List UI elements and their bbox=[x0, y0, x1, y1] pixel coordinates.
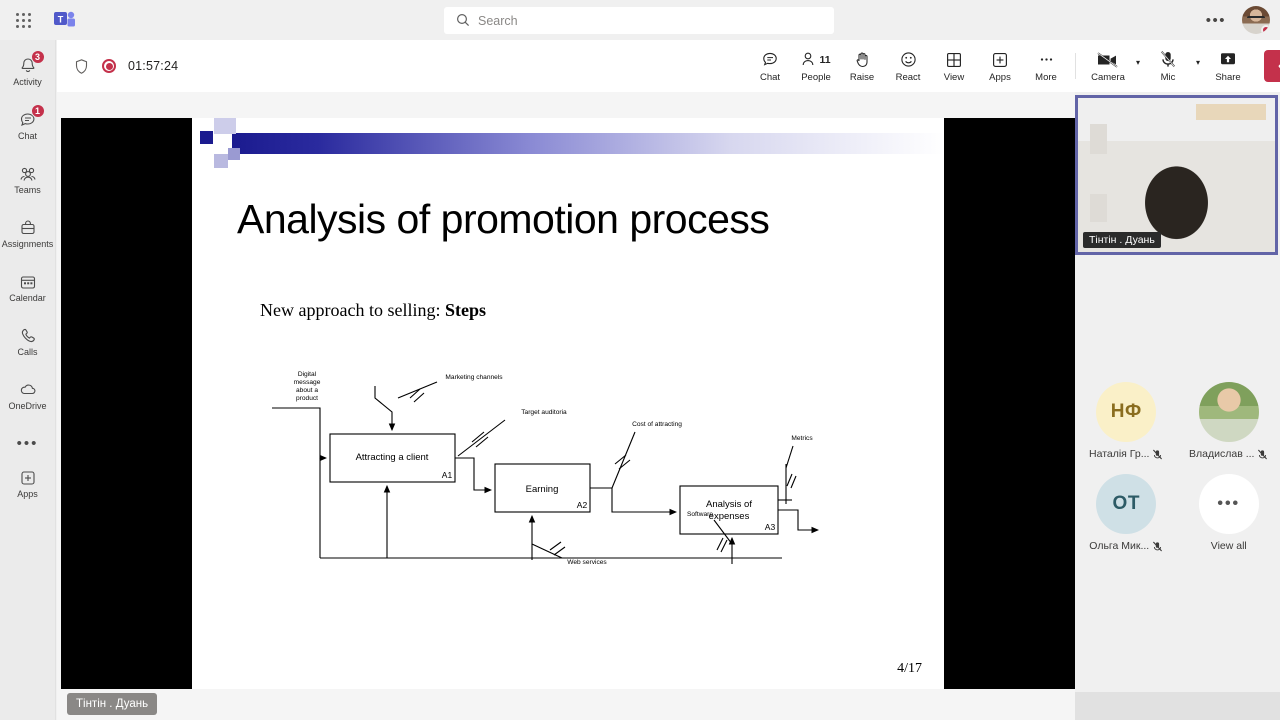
view-all-dots: ••• bbox=[1217, 495, 1240, 513]
avatar-initials: НФ bbox=[1111, 401, 1142, 423]
presenter-name-chip: Тінтін . Дуань bbox=[67, 693, 157, 715]
shared-content-area[interactable]: Analysis of promotion process New approa… bbox=[61, 118, 1075, 689]
sidebar-item-calendar[interactable]: Calendar bbox=[0, 264, 56, 312]
self-view-tile[interactable] bbox=[1075, 692, 1280, 720]
participant-tile[interactable]: ОТ Ольга Мик... bbox=[1075, 474, 1178, 552]
sidebar-item-label: Activity bbox=[13, 78, 42, 88]
participants-panel: Тінтін . Дуань НФ Наталія Гр... Владисла… bbox=[1075, 92, 1280, 720]
plus-box-icon bbox=[991, 50, 1009, 70]
diagram-label-software: Software bbox=[687, 511, 713, 518]
sidebar-item-chat[interactable]: Chat 1 bbox=[0, 102, 56, 150]
search-icon bbox=[456, 13, 470, 27]
wall-decor-2 bbox=[1090, 194, 1107, 222]
top-bar-right: ••• bbox=[1200, 0, 1270, 40]
diagram-label-target: Target auditoria bbox=[521, 409, 567, 416]
sidebar-item-label: Calendar bbox=[9, 294, 46, 304]
diagram-box-a1-label: Attracting a client bbox=[356, 452, 429, 463]
tool-label: React bbox=[896, 72, 921, 83]
sidebar-item-onedrive[interactable]: OneDrive bbox=[0, 372, 56, 420]
topbar-more-button[interactable]: ••• bbox=[1200, 12, 1232, 29]
diagram-svg: Attracting a client Earning Analysis of … bbox=[262, 368, 902, 598]
diagram-code-a2: A2 bbox=[577, 500, 588, 510]
slide-subtitle-prefix: New approach to selling: bbox=[260, 300, 445, 320]
leave-button[interactable]: Leave bbox=[1264, 50, 1280, 82]
share-button[interactable]: Share bbox=[1202, 40, 1254, 92]
sidebar-item-label: Apps bbox=[17, 490, 38, 500]
camera-off-icon bbox=[1096, 50, 1120, 70]
top-bar: T Search ••• bbox=[0, 0, 1280, 40]
avatar: ОТ bbox=[1096, 474, 1156, 534]
avatar bbox=[1199, 382, 1259, 442]
teams-logo-icon: T bbox=[54, 10, 76, 30]
diagram-label-input-3: about a bbox=[296, 387, 318, 394]
slide-title: Analysis of promotion process bbox=[237, 196, 917, 243]
sidebar-item-label: Assignments bbox=[2, 240, 54, 250]
view-all-label: View all bbox=[1211, 540, 1247, 552]
slide-header-band bbox=[192, 118, 944, 174]
tool-label: Share bbox=[1215, 72, 1240, 83]
speaker-name: Тінтін . Дуань bbox=[1083, 232, 1161, 248]
mic-off-icon bbox=[1257, 449, 1268, 460]
sidebar-more-button[interactable]: ••• bbox=[17, 426, 39, 460]
idef0-diagram: Attracting a client Earning Analysis of … bbox=[262, 368, 902, 598]
wall-decor-1 bbox=[1090, 124, 1107, 154]
participant-tile[interactable]: Владислав ... bbox=[1178, 382, 1280, 460]
mic-off-icon bbox=[1159, 50, 1177, 70]
diagram-label-input-1: Digital bbox=[298, 371, 317, 378]
sidebar-item-assignments[interactable]: Assignments bbox=[0, 210, 56, 258]
diagram-label-cost: Cost of attracting bbox=[632, 421, 682, 428]
diagram-code-a1: A1 bbox=[442, 470, 453, 480]
ellipsis-icon: ••• bbox=[1199, 474, 1259, 534]
more-button[interactable]: More bbox=[1023, 40, 1069, 92]
tool-label: More bbox=[1035, 72, 1057, 83]
people-icon: 11 bbox=[801, 50, 830, 70]
diagram-box-a3-label-1: Analysis of bbox=[706, 499, 752, 510]
participant-name: Наталія Гр... bbox=[1089, 448, 1149, 460]
view-button[interactable]: View bbox=[931, 40, 977, 92]
diagram-label-web: Web services bbox=[567, 559, 607, 566]
meeting-toolbar: Chat 11 People Raise React bbox=[747, 40, 1280, 92]
band-square-4 bbox=[228, 148, 240, 160]
tool-label: View bbox=[944, 72, 964, 83]
slide-page-number: 4/17 bbox=[897, 661, 922, 677]
diagram-box-a2-label: Earning bbox=[526, 484, 559, 495]
view-all-row: View all bbox=[1211, 540, 1247, 552]
plus-box-icon bbox=[18, 468, 38, 488]
camera-chevron-down-icon[interactable]: ▾ bbox=[1134, 58, 1142, 67]
sidebar-item-teams[interactable]: Teams bbox=[0, 156, 56, 204]
band-square-2 bbox=[214, 118, 236, 134]
people-button[interactable]: 11 People bbox=[793, 40, 839, 92]
avatar: НФ bbox=[1096, 382, 1156, 442]
speaker-video bbox=[1078, 98, 1275, 252]
camera-button[interactable]: Camera bbox=[1082, 40, 1134, 92]
search-bar[interactable]: Search bbox=[444, 7, 834, 34]
sidebar-item-label: Chat bbox=[18, 132, 37, 142]
share-screen-icon bbox=[1218, 50, 1238, 70]
diagram-label-input-2: message bbox=[294, 379, 321, 386]
mic-button[interactable]: Mic bbox=[1142, 40, 1194, 92]
grid-icon bbox=[945, 50, 963, 70]
record-icon bbox=[102, 59, 116, 73]
meeting-header: 01:57:24 Chat 11 People Raise bbox=[57, 40, 1280, 92]
sidebar-item-activity[interactable]: Activity 3 bbox=[0, 48, 56, 96]
diagram-label-marketing: Marketing channels bbox=[445, 374, 503, 381]
activity-badge: 3 bbox=[31, 50, 45, 64]
sidebar-item-label: Calls bbox=[17, 348, 37, 358]
sidebar-item-label: OneDrive bbox=[8, 402, 46, 412]
participant-name-row: Владислав ... bbox=[1189, 448, 1268, 460]
participant-name-row: Ольга Мик... bbox=[1089, 540, 1163, 552]
mic-off-icon bbox=[1152, 541, 1163, 552]
search-input[interactable]: Search bbox=[444, 7, 834, 34]
ellipsis-icon bbox=[1037, 50, 1056, 70]
tool-label: Raise bbox=[850, 72, 874, 83]
mic-off-icon bbox=[1152, 449, 1163, 460]
apps-button[interactable]: Apps bbox=[977, 40, 1023, 92]
shield-icon[interactable] bbox=[73, 58, 90, 75]
diagram-box-a3-label-2: expenses bbox=[709, 511, 750, 522]
meeting-status-group: 01:57:24 bbox=[57, 58, 178, 75]
avatar[interactable] bbox=[1242, 6, 1270, 34]
diagram-label-input-4: product bbox=[296, 395, 318, 402]
meeting-stage: Analysis of promotion process New approa… bbox=[57, 92, 1075, 720]
svg-text:T: T bbox=[58, 15, 64, 25]
toolbar-divider bbox=[1075, 53, 1076, 79]
tool-label: Chat bbox=[760, 72, 780, 83]
meeting-timer: 01:57:24 bbox=[128, 59, 178, 73]
diagram-code-a3: A3 bbox=[765, 522, 776, 532]
participant-name-row: Наталія Гр... bbox=[1089, 448, 1163, 460]
teams-meeting-window: T Search ••• Activity 3 bbox=[0, 0, 1280, 720]
left-rail: Activity 3 Chat 1 Teams Assignments bbox=[0, 40, 56, 720]
view-all-tile[interactable]: ••• View all bbox=[1178, 474, 1280, 552]
calendar-icon bbox=[18, 272, 38, 292]
participant-name: Ольга Мик... bbox=[1089, 540, 1149, 552]
chat-bubble-icon bbox=[761, 50, 780, 70]
assignments-icon bbox=[18, 218, 38, 238]
teams-icon bbox=[18, 164, 38, 184]
presentation-slide: Analysis of promotion process New approa… bbox=[192, 118, 944, 689]
presence-indicator bbox=[1261, 25, 1270, 34]
smiley-icon bbox=[899, 50, 918, 70]
slide-subtitle: New approach to selling: Steps bbox=[260, 300, 486, 321]
active-speaker-tile[interactable]: Тінтін . Дуань bbox=[1075, 95, 1278, 255]
band-gradient bbox=[232, 133, 944, 154]
band-square-1 bbox=[200, 131, 213, 144]
wall-decor-3 bbox=[1196, 104, 1266, 120]
participant-grid: НФ Наталія Гр... Владислав ... bbox=[1075, 382, 1280, 552]
mic-chevron-down-icon[interactable]: ▾ bbox=[1194, 58, 1202, 67]
hand-icon bbox=[853, 50, 872, 70]
chat-button[interactable]: Chat bbox=[747, 40, 793, 92]
tool-label: People bbox=[801, 72, 831, 83]
tool-label: Camera bbox=[1091, 72, 1125, 83]
sidebar-item-apps[interactable]: Apps bbox=[0, 460, 56, 508]
diagram-label-metrics: Metrics bbox=[791, 435, 813, 442]
chat-badge: 1 bbox=[31, 104, 45, 118]
sidebar-item-calls[interactable]: Calls bbox=[0, 318, 56, 366]
tool-label: Mic bbox=[1161, 72, 1176, 83]
tool-label: Apps bbox=[989, 72, 1011, 83]
avatar-initials: ОТ bbox=[1113, 493, 1140, 515]
band-square-3 bbox=[214, 154, 228, 168]
phone-icon bbox=[18, 326, 38, 346]
react-button[interactable]: React bbox=[885, 40, 931, 92]
cloud-icon bbox=[18, 380, 38, 400]
slide-subtitle-bold: Steps bbox=[445, 300, 486, 320]
app-grid-icon[interactable] bbox=[0, 13, 46, 28]
raise-hand-button[interactable]: Raise bbox=[839, 40, 885, 92]
participant-name: Владислав ... bbox=[1189, 448, 1254, 460]
participant-tile[interactable]: НФ Наталія Гр... bbox=[1075, 382, 1178, 460]
people-count: 11 bbox=[819, 54, 830, 66]
sidebar-item-label: Teams bbox=[14, 186, 41, 196]
